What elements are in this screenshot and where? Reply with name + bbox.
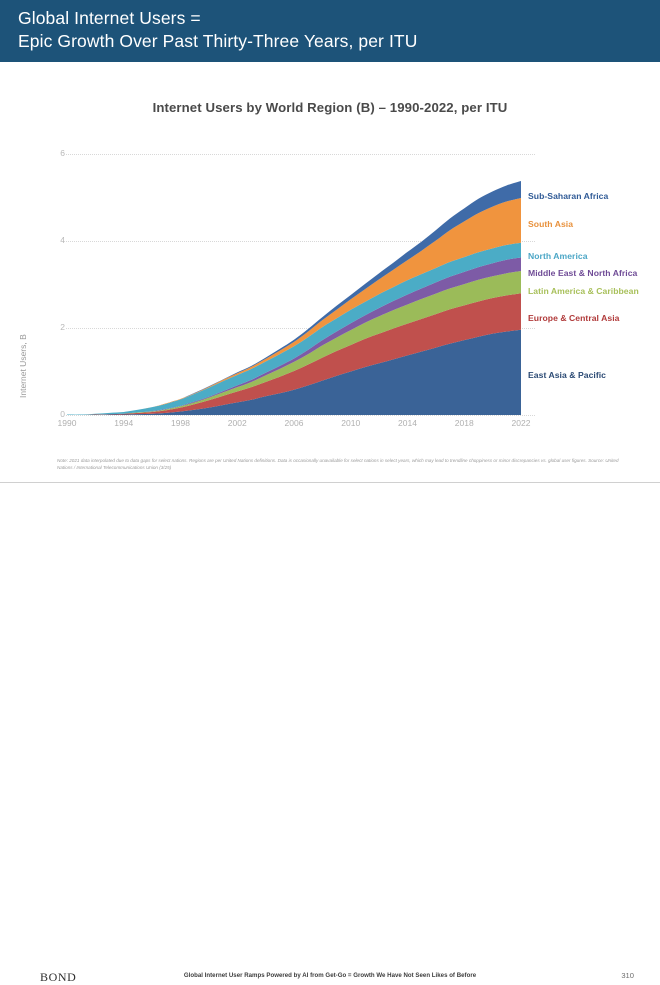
slide-title-line-1: Global Internet Users = bbox=[18, 7, 660, 30]
slide-header: Global Internet Users = Epic Growth Over… bbox=[0, 0, 660, 62]
x-axis-tick: 2006 bbox=[277, 418, 311, 428]
chart-title: Internet Users by World Region (B) – 199… bbox=[0, 100, 660, 115]
x-axis-tick: 2010 bbox=[334, 418, 368, 428]
slide-footer: BOND Global Internet User Ramps Powered … bbox=[0, 483, 660, 502]
x-axis-tick: 1994 bbox=[107, 418, 141, 428]
x-axis-tick: 1998 bbox=[164, 418, 198, 428]
footer-tagline: Global Internet User Ramps Powered by AI… bbox=[0, 972, 660, 979]
chart-footnote: Note: 2021 data interpolated due to data… bbox=[57, 458, 632, 471]
series-label-middle-east-north-africa: Middle East & North Africa bbox=[528, 268, 637, 278]
series-label-latin-america-caribbean: Latin America & Caribbean bbox=[528, 286, 639, 296]
x-axis-tick: 2002 bbox=[220, 418, 254, 428]
x-axis-tick: 2018 bbox=[447, 418, 481, 428]
series-label-europe-central-asia: Europe & Central Asia bbox=[528, 313, 619, 323]
slide-title-line-2: Epic Growth Over Past Thirty-Three Years… bbox=[18, 30, 660, 53]
series-label-east-asia-pacific: East Asia & Pacific bbox=[528, 370, 606, 380]
x-axis-tick: 1990 bbox=[50, 418, 84, 428]
series-label-sub-saharan-africa: Sub-Saharan Africa bbox=[528, 191, 608, 201]
series-label-north-america: North America bbox=[528, 251, 588, 261]
x-axis-tick: 2014 bbox=[391, 418, 425, 428]
series-label-south-asia: South Asia bbox=[528, 219, 573, 229]
page-number: 310 bbox=[621, 971, 634, 980]
x-axis-tick: 2022 bbox=[504, 418, 538, 428]
chart-plot-area: Internet Users, B 0246 19901994199820022… bbox=[0, 140, 660, 440]
